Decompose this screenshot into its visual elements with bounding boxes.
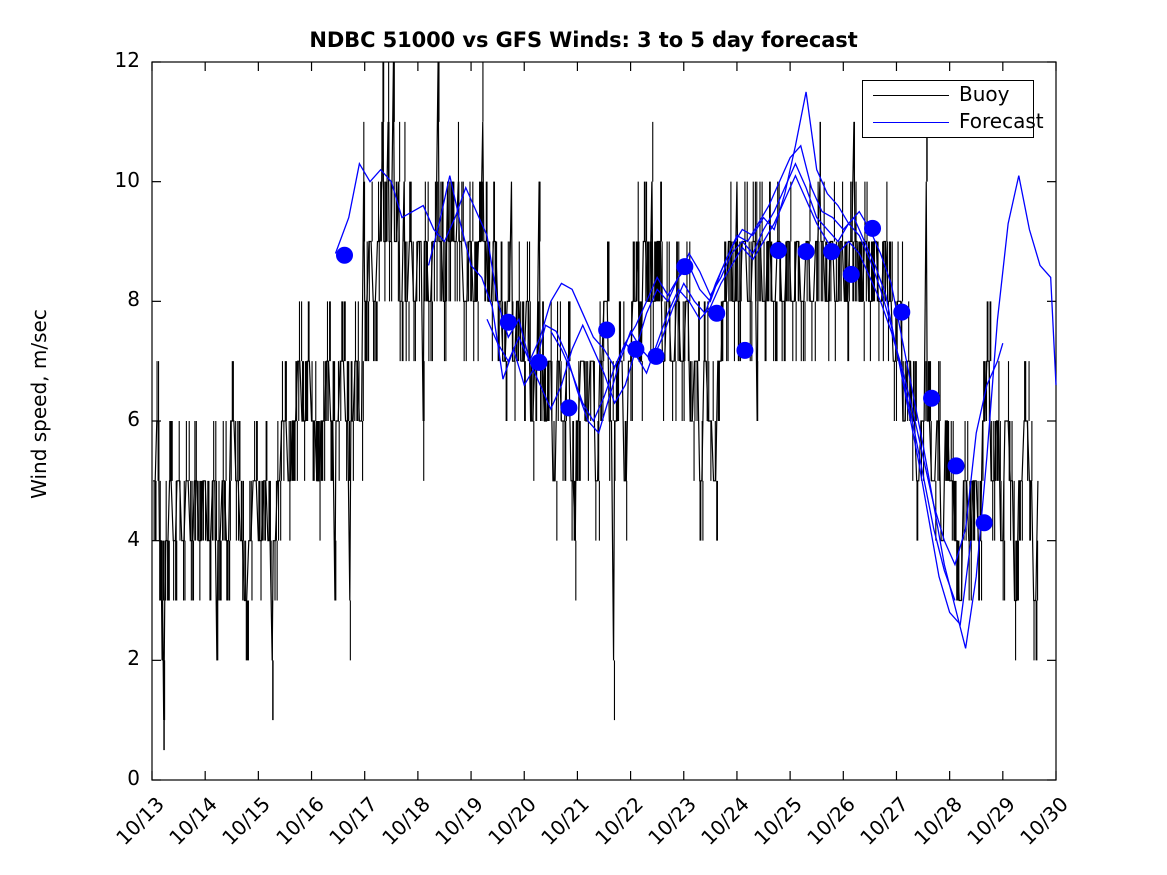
forecast-marker-2 (531, 354, 547, 370)
forecast-series-line-1 (429, 146, 971, 625)
forecast-marker-11 (798, 244, 814, 260)
forecast-marker-10 (770, 242, 786, 258)
forecast-marker-12 (824, 244, 840, 260)
forecast-marker-7 (677, 259, 693, 275)
forecast-marker-8 (709, 305, 725, 321)
forecast-marker-6 (648, 348, 664, 364)
forecast-marker-13 (843, 266, 859, 282)
forecast-marker-14 (865, 220, 881, 236)
legend-label-buoy: Buoy (959, 82, 1009, 106)
legend-label-forecast: Forecast (959, 109, 1044, 133)
legend-entry-buoy: Buoy (863, 81, 1035, 110)
legend-entry-forecast: Forecast (863, 108, 1035, 137)
buoy-series-spikes (153, 62, 1037, 750)
forecast-marker-3 (561, 400, 577, 416)
legend-line-forecast (873, 122, 949, 123)
forecast-marker-16 (924, 390, 940, 406)
forecast-marker-9 (737, 342, 753, 358)
forecast-marker-0 (337, 247, 353, 263)
forecast-marker-17 (948, 458, 964, 474)
forecast-marker-5 (628, 341, 644, 357)
legend-line-buoy (873, 95, 949, 96)
chart-figure: NDBC 51000 vs GFS Winds: 3 to 5 day fore… (0, 0, 1167, 875)
forecast-marker-4 (599, 322, 615, 338)
forecast-marker-1 (500, 314, 516, 330)
forecast-series-line-0 (335, 92, 1056, 648)
forecast-marker-15 (894, 304, 910, 320)
forecast-marker-18 (976, 515, 992, 531)
chart-legend: Buoy Forecast (862, 80, 1034, 138)
